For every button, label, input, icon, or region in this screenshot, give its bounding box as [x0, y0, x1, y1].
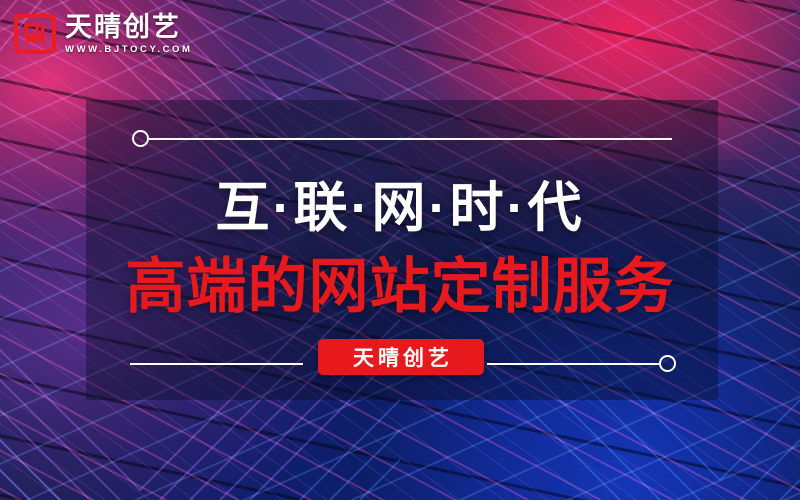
headline-secondary: 高端的网站定制服务: [0, 238, 800, 325]
brand-badge[interactable]: 天晴创艺: [318, 339, 484, 375]
brand-badge-label: 天晴创艺: [349, 342, 453, 372]
brand-logo-text: 天晴创艺 WWW.BJTOCY.COM: [65, 14, 193, 55]
tianqing-square-logo-icon: [14, 14, 56, 54]
circle-outline-icon: [132, 130, 149, 147]
headline-primary: 互·联·网·时·代: [0, 163, 800, 242]
top-divider-rule: [132, 130, 672, 147]
bottom-divider-line-right: [487, 363, 660, 365]
circle-outline-icon: [659, 355, 676, 372]
brand-website: WWW.BJTOCY.COM: [65, 45, 193, 55]
bottom-divider-line-left: [130, 363, 303, 365]
brand-name: 天晴创艺: [65, 14, 193, 41]
promo-banner: 天晴创艺 WWW.BJTOCY.COM 互·联·网·时·代 高端的网站定制服务 …: [0, 0, 800, 500]
top-divider-line: [149, 138, 672, 140]
brand-logo[interactable]: 天晴创艺 WWW.BJTOCY.COM: [14, 14, 193, 55]
